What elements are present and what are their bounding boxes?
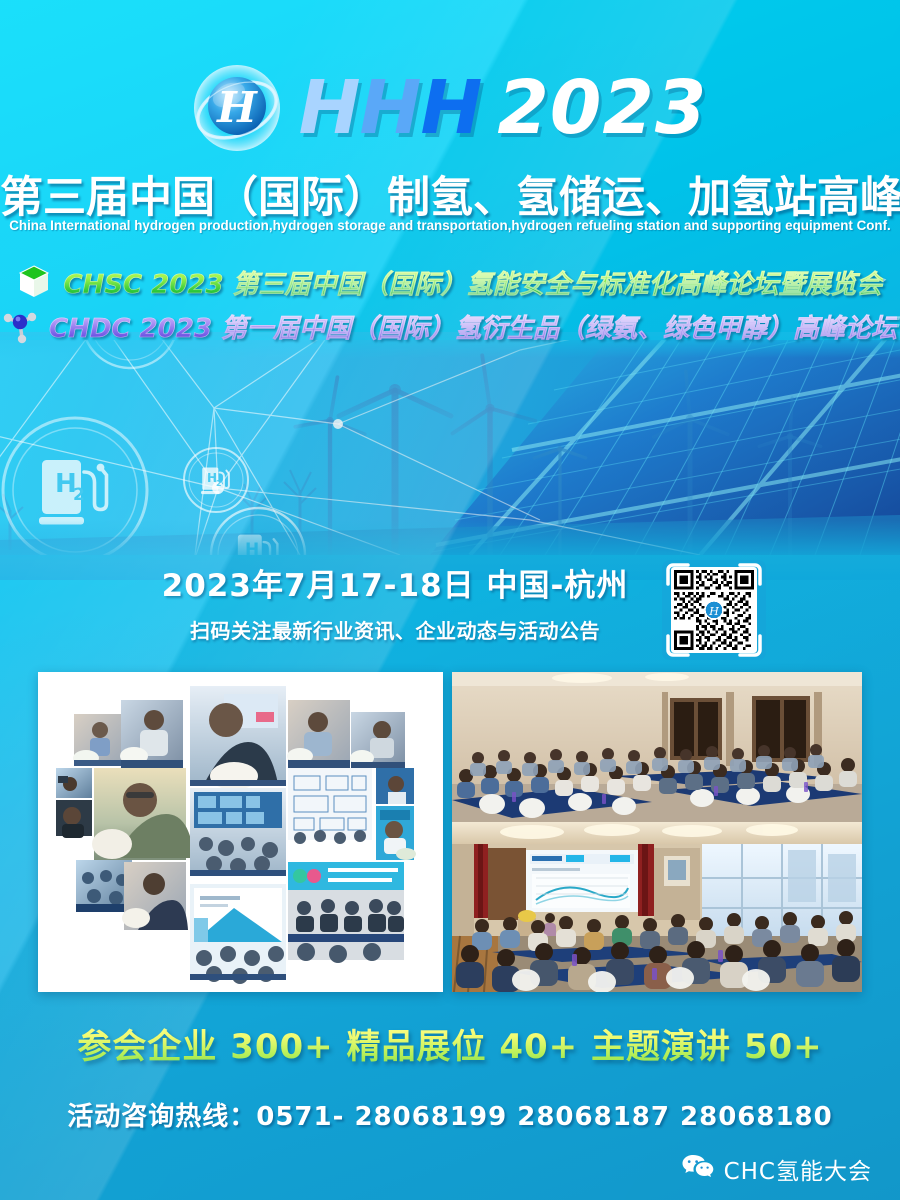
wechat-icon: [681, 1153, 715, 1186]
conference-poster: H 2 H 2: [0, 0, 900, 1200]
hhh-wordmark: HHH2023: [299, 71, 708, 145]
event-info-block: 2023年7月17-18日 中国-杭州 扫码关注最新行业资讯、企业动态与活动公告: [135, 560, 655, 644]
hhh-letter-1: H: [299, 71, 360, 145]
qr-code-icon[interactable]: H: [662, 560, 766, 660]
event-date-location: 2023年7月17-18日 中国-杭州: [135, 560, 655, 605]
hydrogen-h-sphere-icon: H: [193, 64, 281, 152]
hhh-letter-2: H: [360, 71, 421, 145]
forum-label-chdc: CHDC 2023 第一届中国（国际）氢衍生品（绿氨、绿色甲醇）高峰论坛: [49, 308, 897, 345]
forum-line-chsc: CHSC 2023 第三届中国（国际）氢能安全与标准化高峰论坛暨展览会: [0, 262, 900, 302]
molecule-icon: [3, 308, 37, 344]
scan-prompt: 扫码关注最新行业资讯、企业动态与活动公告: [135, 615, 655, 644]
forum-label-chsc: CHSC 2023 第三届中国（国际）氢能安全与标准化高峰论坛暨展览会: [63, 264, 882, 301]
green-cube-icon: [17, 264, 51, 300]
wechat-label: CHC氢能大会: [724, 1152, 872, 1186]
event-stats: 参会企业 300+ 精品展位 40+ 主题演讲 50+: [0, 1019, 900, 1068]
logo-row: H HHH2023: [0, 62, 900, 154]
qr-matrix: H: [674, 570, 754, 650]
hhh-letter-3: H: [420, 71, 481, 145]
photo-audience-wide: [452, 672, 862, 822]
main-title-en: China International hydrogen production,…: [0, 218, 900, 233]
photo-main-forum: [452, 822, 862, 992]
svg-text:H: H: [708, 605, 719, 618]
main-title-cn: 第三届中国（国际）制氢、氢储运、加氢站高峰论坛: [0, 163, 900, 225]
photo-collage-speakers: [38, 672, 443, 992]
photo-conference-hall: [452, 672, 862, 992]
svg-text:H: H: [216, 83, 258, 132]
hotline-text: 活动咨询热线：0571- 28068199 28068187 28068180: [0, 1096, 900, 1133]
wechat-account[interactable]: CHC氢能大会: [681, 1152, 872, 1186]
logo-year: 2023: [497, 71, 707, 145]
forum-line-chdc: CHDC 2023 第一届中国（国际）氢衍生品（绿氨、绿色甲醇）高峰论坛: [0, 306, 900, 346]
